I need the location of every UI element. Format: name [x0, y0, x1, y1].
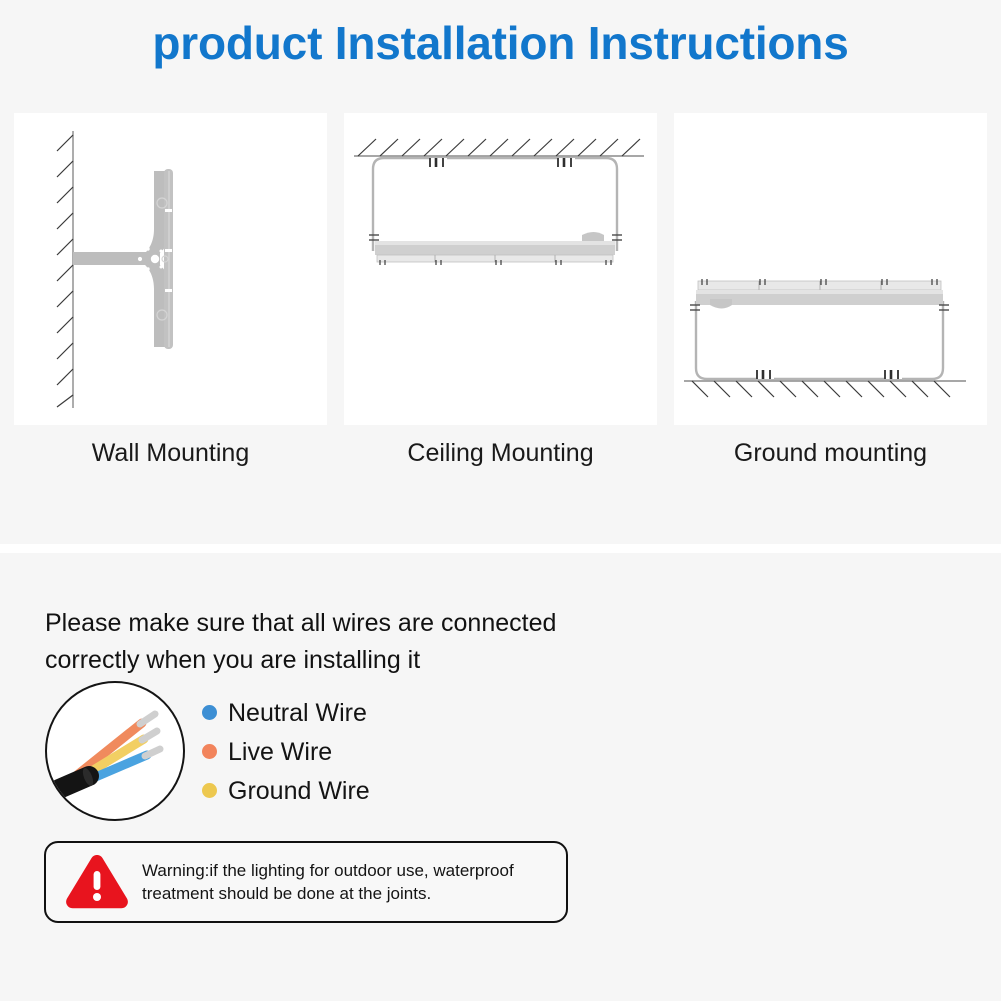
panel-wall-mounting [14, 113, 327, 425]
legend-item-neutral-wire: Neutral Wire [202, 693, 542, 732]
caption-wall-mounting: Wall Mounting [14, 437, 327, 473]
wiring-instruction-line-1: Please make sure that all wires are conn… [45, 605, 645, 642]
ceiling-mount-diagram [344, 113, 657, 425]
warning-line-1: Warning:if the lighting for outdoor use,… [142, 859, 514, 882]
mounting-section: product Installation Instructions [0, 0, 1001, 544]
three-core-cable-illustration [47, 683, 183, 819]
warning-box: Warning:if the lighting for outdoor use,… [44, 841, 568, 923]
installation-instructions-page: product Installation Instructions [0, 0, 1001, 1001]
warning-text: Warning:if the lighting for outdoor use,… [142, 859, 528, 905]
wall-mount-diagram [14, 113, 327, 425]
legend-label-live-wire: Live Wire [228, 738, 332, 766]
bullet-ground-icon [202, 783, 217, 798]
wire-legend: Neutral Wire Live Wire Ground Wire [202, 693, 542, 810]
warning-line-2: treatment should be done at the joints. [142, 882, 514, 905]
legend-label-neutral-wire: Neutral Wire [228, 699, 367, 727]
mounting-captions: Wall Mounting Ceiling Mounting Ground mo… [14, 437, 987, 473]
ground-mount-diagram [674, 113, 987, 425]
legend-item-ground-wire: Ground Wire [202, 771, 542, 810]
page-title: product Installation Instructions [0, 16, 1001, 70]
wiring-instruction-text: Please make sure that all wires are conn… [45, 605, 645, 679]
wiring-section: Please make sure that all wires are conn… [0, 553, 1001, 1001]
legend-label-ground-wire: Ground Wire [228, 777, 370, 805]
mounting-panels [14, 113, 987, 425]
wiring-instruction-line-2: correctly when you are installing it [45, 642, 645, 679]
warning-triangle-icon [66, 855, 128, 909]
panel-ground-mounting [674, 113, 987, 425]
panel-ceiling-mounting [344, 113, 657, 425]
legend-item-live-wire: Live Wire [202, 732, 542, 771]
cable-photo [45, 681, 185, 821]
caption-ground-mounting: Ground mounting [674, 437, 987, 473]
section-divider [0, 544, 1001, 553]
caption-ceiling-mounting: Ceiling Mounting [344, 437, 657, 473]
bullet-neutral-icon [202, 705, 217, 720]
bullet-live-icon [202, 744, 217, 759]
